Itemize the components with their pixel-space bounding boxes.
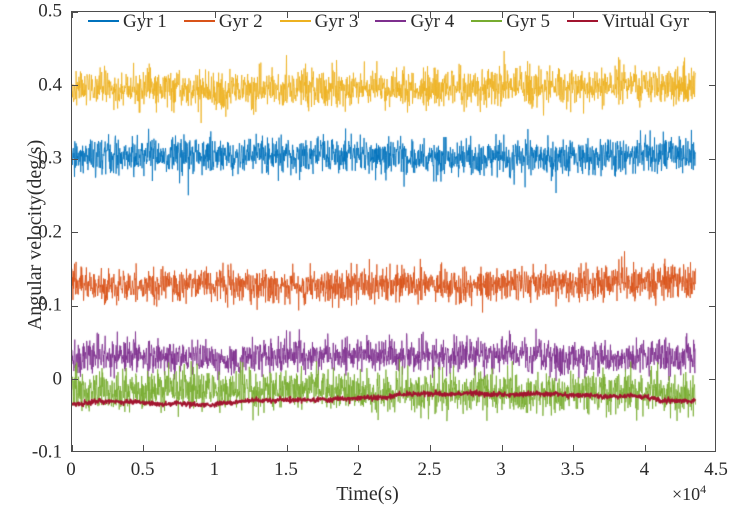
y-tick-4 xyxy=(72,159,78,160)
x-tick-label-5: 2.5 xyxy=(417,460,441,479)
y-tick-right-3 xyxy=(709,232,715,233)
series-canvas xyxy=(72,12,716,452)
legend-label: Gyr 5 xyxy=(506,12,550,31)
y-tick-2 xyxy=(72,306,78,307)
figure-canvas: Gyr 1Gyr 2Gyr 3Gyr 4Gyr 5Virtual Gyr 00.… xyxy=(0,0,735,516)
x-tick-2 xyxy=(215,445,216,451)
legend-label: Gyr 4 xyxy=(410,12,454,31)
x-tick-1 xyxy=(143,445,144,451)
legend-item-gyr-2[interactable]: Gyr 2 xyxy=(184,12,263,31)
y-tick-1 xyxy=(72,379,78,380)
x-tick-6 xyxy=(502,445,503,451)
y-tick-right-6 xyxy=(709,12,715,13)
x-tick-label-7: 3.5 xyxy=(561,460,585,479)
x-tick-7 xyxy=(573,445,574,451)
x-tick-label-1: 0.5 xyxy=(131,460,155,479)
y-tick-right-5 xyxy=(709,85,715,86)
legend-label: Gyr 1 xyxy=(123,12,167,31)
x-tick-label-4: 2 xyxy=(353,460,363,479)
legend-item-gyr-1[interactable]: Gyr 1 xyxy=(88,12,167,31)
legend-item-gyr-3[interactable]: Gyr 3 xyxy=(280,12,359,31)
chart-legend: Gyr 1Gyr 2Gyr 3Gyr 4Gyr 5Virtual Gyr xyxy=(88,9,689,33)
legend-item-gyr-5[interactable]: Gyr 5 xyxy=(471,12,550,31)
legend-color-swatch xyxy=(88,20,119,23)
y-tick-right-4 xyxy=(709,159,715,160)
legend-label: Gyr 2 xyxy=(219,12,263,31)
x-tick-0 xyxy=(72,445,73,451)
y-tick-6 xyxy=(72,12,78,13)
x-axis-exponent-power: 4 xyxy=(700,482,706,496)
y-tick-label-0: -0.1 xyxy=(32,443,62,462)
x-tick-label-2: 1 xyxy=(210,460,220,479)
legend-color-swatch xyxy=(567,20,598,23)
y-tick-3 xyxy=(72,232,78,233)
y-tick-label-6: 0.5 xyxy=(38,2,62,21)
legend-item-gyr-4[interactable]: Gyr 4 xyxy=(375,12,454,31)
x-axis-exponent-base: ×10 xyxy=(672,484,700,504)
x-tick-label-8: 4 xyxy=(640,460,650,479)
x-axis-exponent: ×104 xyxy=(672,483,706,503)
y-tick-5 xyxy=(72,85,78,86)
y-tick-right-2 xyxy=(709,306,715,307)
x-tick-label-9: 4.5 xyxy=(704,460,728,479)
x-tick-3 xyxy=(287,445,288,451)
y-tick-right-1 xyxy=(709,379,715,380)
legend-color-swatch xyxy=(280,20,311,23)
x-tick-label-3: 1.5 xyxy=(274,460,298,479)
x-tick-8 xyxy=(645,445,646,451)
legend-color-swatch xyxy=(375,20,406,23)
legend-label: Virtual Gyr xyxy=(602,12,689,31)
x-tick-5 xyxy=(430,445,431,451)
x-tick-4 xyxy=(358,445,359,451)
plot-area xyxy=(71,11,716,452)
legend-color-swatch xyxy=(471,20,502,23)
y-axis-title: Angular velocity(deg/s) xyxy=(25,35,45,435)
legend-color-swatch xyxy=(184,20,215,23)
x-tick-top-0 xyxy=(72,12,73,18)
legend-item-virtual-gyr[interactable]: Virtual Gyr xyxy=(567,12,689,31)
x-tick-label-6: 3 xyxy=(496,460,506,479)
x-axis-title: Time(s) xyxy=(0,484,735,504)
legend-label: Gyr 3 xyxy=(315,12,359,31)
x-tick-label-0: 0 xyxy=(66,460,76,479)
y-tick-label-1: 0 xyxy=(53,369,63,388)
